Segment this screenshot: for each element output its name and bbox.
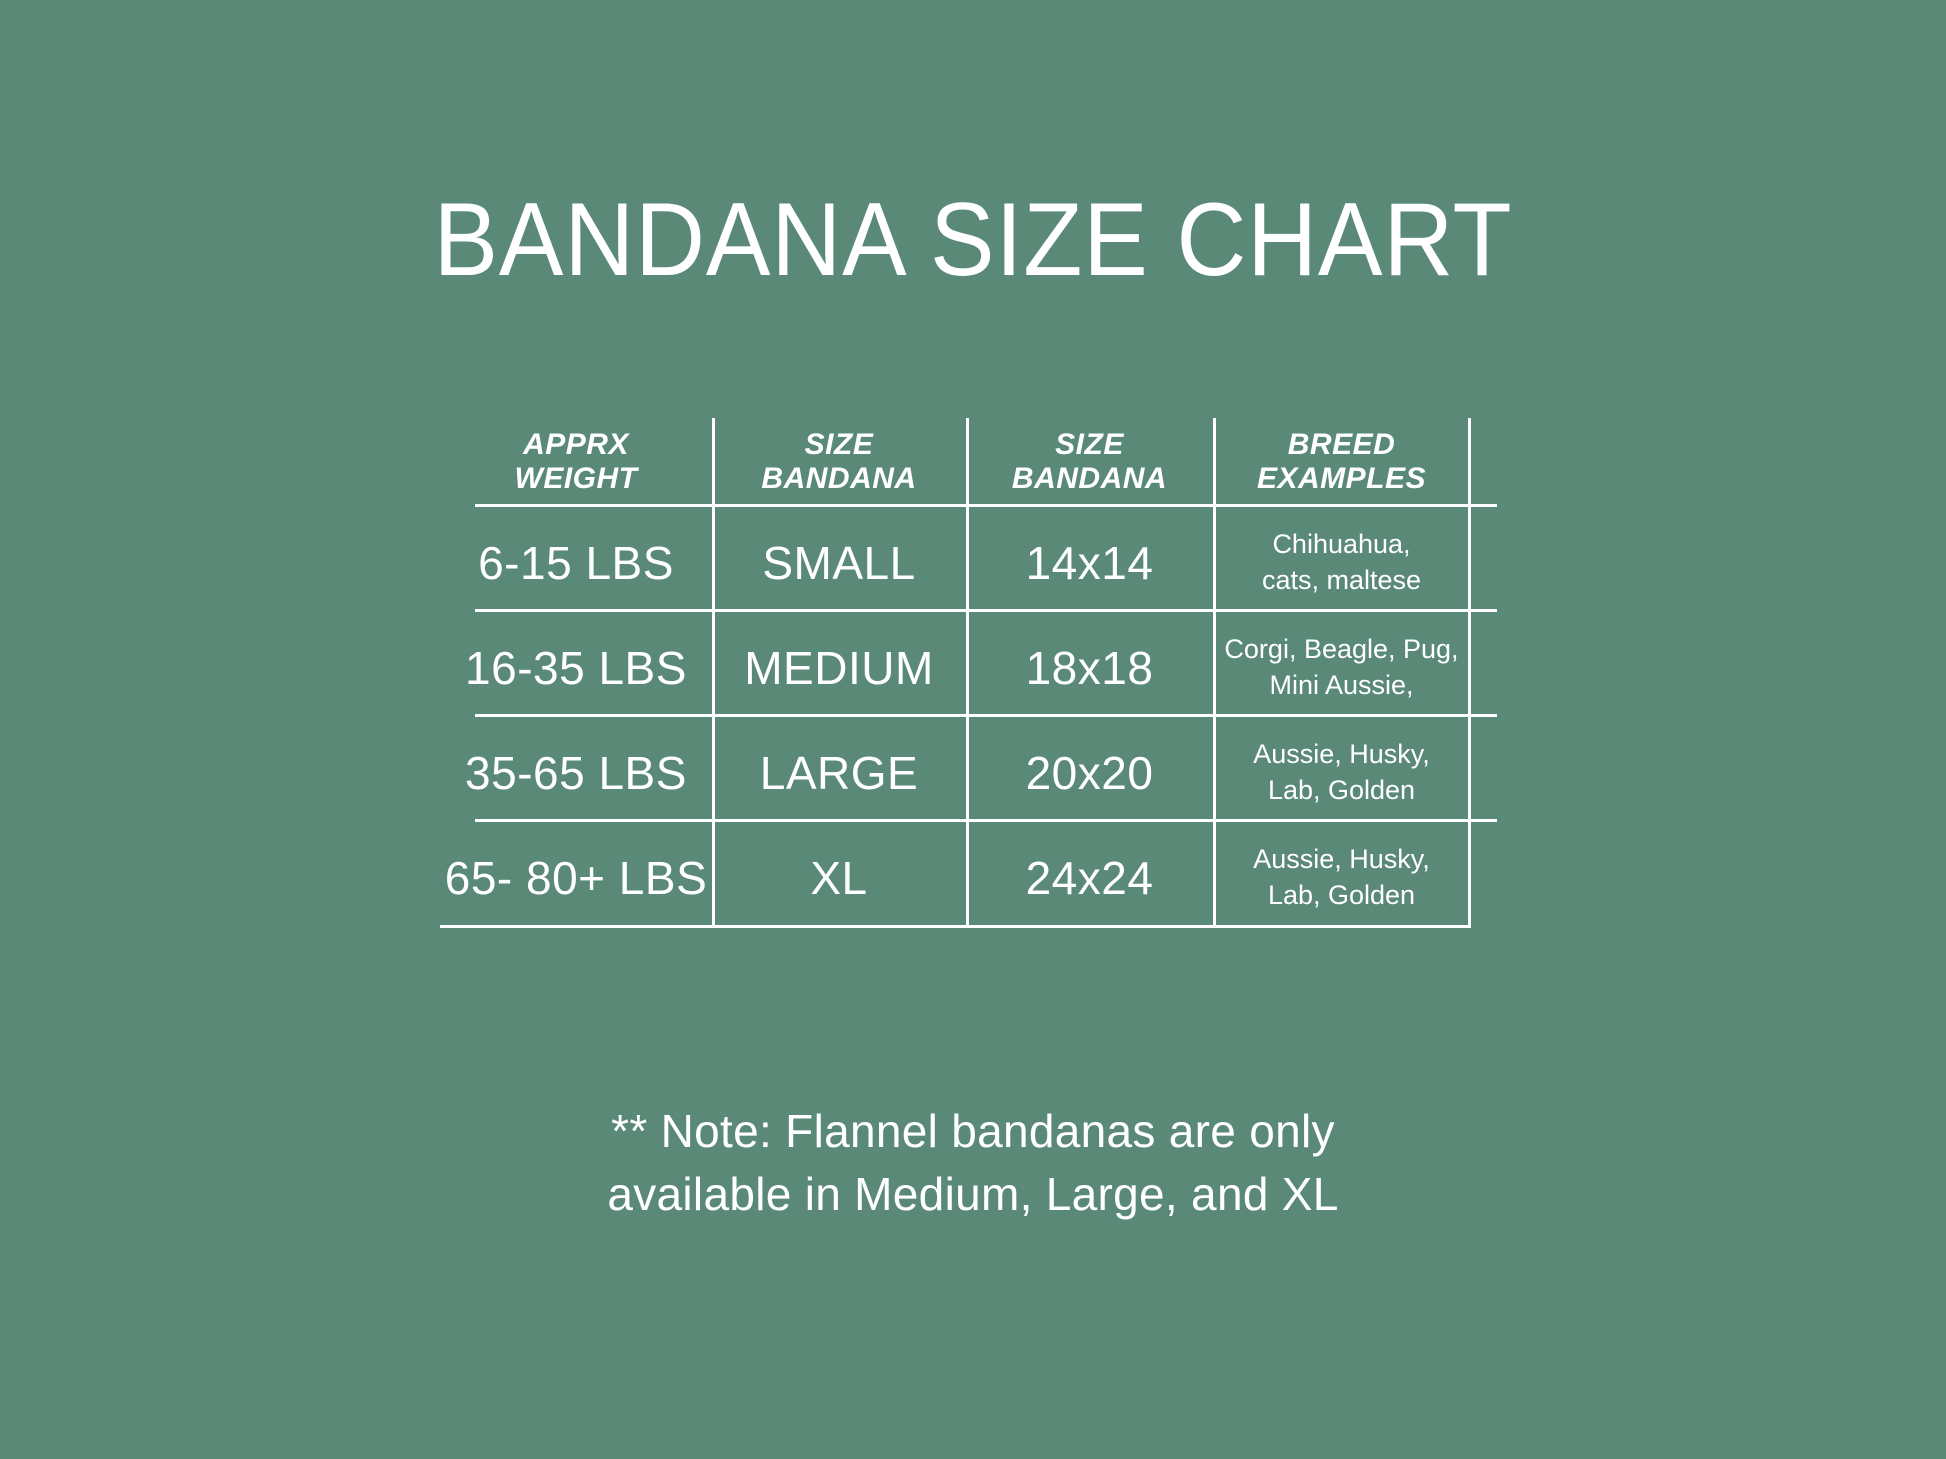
- cell-size: SMALL: [712, 510, 966, 615]
- breed-line-2: Lab, Golden: [1268, 775, 1415, 805]
- header-line-2: BANDANA: [761, 462, 916, 495]
- header-line-2: BANDANA: [1012, 462, 1167, 495]
- cell-breed-examples: Aussie, Husky, Lab, Golden: [1213, 720, 1470, 825]
- breed-line-2: cats, maltese: [1262, 565, 1421, 595]
- cell-dimensions: 14x14: [966, 510, 1213, 615]
- size-table-container: APPRX WEIGHT SIZE BANDANA SIZE BANDANA B…: [440, 418, 1470, 928]
- table-row: 35-65 LBS LARGE 20x20 Aussie, Husky, Lab…: [440, 720, 1470, 825]
- weight-value: 6-15 LBS: [478, 536, 674, 590]
- page-title: BANDANA SIZE CHART: [68, 188, 1878, 292]
- table-row: 6-15 LBS SMALL 14x14 Chihuahua, cats, ma…: [440, 510, 1470, 615]
- cell-weight: 6-15 LBS: [440, 510, 712, 615]
- weight-value: 35-65 LBS: [465, 746, 687, 800]
- cell-size: XL: [712, 825, 966, 930]
- header-line-1: SIZE: [805, 428, 874, 461]
- size-table: APPRX WEIGHT SIZE BANDANA SIZE BANDANA B…: [440, 418, 1470, 930]
- note-line-1: ** Note: Flannel bandanas are only: [0, 1100, 1946, 1163]
- table-header-row: APPRX WEIGHT SIZE BANDANA SIZE BANDANA B…: [440, 418, 1470, 510]
- cell-dimensions: 20x20: [966, 720, 1213, 825]
- breed-line-1: Aussie, Husky,: [1253, 844, 1430, 874]
- cell-weight: 16-35 LBS: [440, 615, 712, 720]
- table-row: 65- 80+ LBS XL 24x24 Aussie, Husky, Lab,…: [440, 825, 1470, 930]
- breed-line-2: Mini Aussie,: [1269, 670, 1413, 700]
- cell-breed-examples: Aussie, Husky, Lab, Golden: [1213, 825, 1470, 930]
- breed-line-1: Corgi, Beagle, Pug,: [1224, 634, 1458, 664]
- cell-size: MEDIUM: [712, 615, 966, 720]
- bandana-size-chart-page: BANDANA SIZE CHART APPRX WEIGHT SIZE BAN…: [0, 0, 1946, 1459]
- table-row: 16-35 LBS MEDIUM 18x18 Corgi, Beagle, Pu…: [440, 615, 1470, 720]
- column-header-apprx-weight: APPRX WEIGHT: [440, 418, 712, 510]
- column-header-size-bandana: SIZE BANDANA: [712, 418, 966, 510]
- cell-dimensions: 24x24: [966, 825, 1213, 930]
- weight-value: 16-35 LBS: [465, 641, 687, 695]
- column-header-breed-examples: BREED EXAMPLES: [1213, 418, 1470, 510]
- note-line-2: available in Medium, Large, and XL: [0, 1163, 1946, 1226]
- cell-breed-examples: Chihuahua, cats, maltese: [1213, 510, 1470, 615]
- breed-line-1: Aussie, Husky,: [1253, 739, 1430, 769]
- header-line-1: BREED: [1288, 428, 1396, 461]
- header-line-2: EXAMPLES: [1257, 462, 1426, 495]
- header-line-2: WEIGHT: [515, 462, 638, 495]
- flannel-availability-note: ** Note: Flannel bandanas are only avail…: [0, 1100, 1946, 1227]
- breed-line-1: Chihuahua,: [1272, 529, 1410, 559]
- cell-breed-examples: Corgi, Beagle, Pug, Mini Aussie,: [1213, 615, 1470, 720]
- weight-value: 65- 80+ LBS: [445, 851, 708, 905]
- breed-line-2: Lab, Golden: [1268, 880, 1415, 910]
- header-line-1: SIZE: [1055, 428, 1124, 461]
- header-line-1: APPRX: [523, 428, 629, 461]
- cell-weight: 35-65 LBS: [440, 720, 712, 825]
- column-header-size-bandana-dimensions: SIZE BANDANA: [966, 418, 1213, 510]
- cell-weight: 65- 80+ LBS: [440, 825, 712, 930]
- cell-dimensions: 18x18: [966, 615, 1213, 720]
- cell-size: LARGE: [712, 720, 966, 825]
